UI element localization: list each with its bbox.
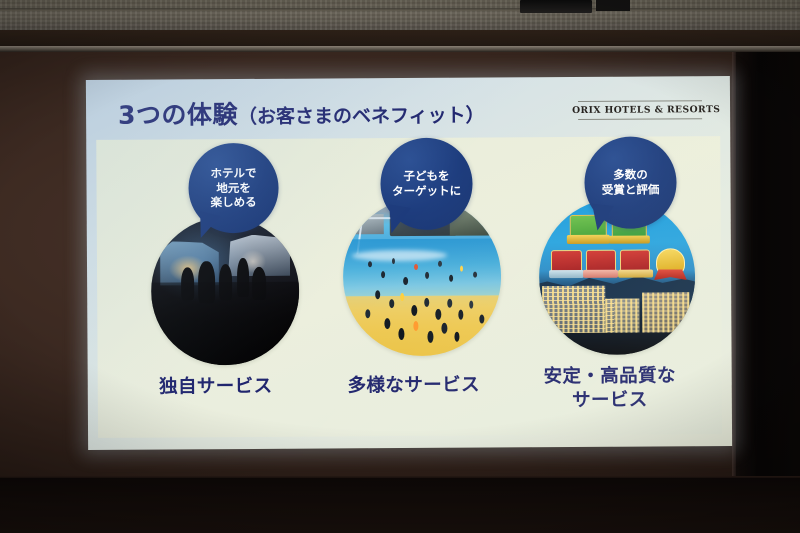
photo-hotel-event xyxy=(151,217,300,366)
ceiling-vent xyxy=(596,0,630,11)
logo-text: ORIX HOTELS & RESORTS xyxy=(572,101,708,119)
presentation-slide: 3つの体験（お客さまのベネフィット） ORIX HOTELS & RESORTS xyxy=(86,76,732,450)
brand-logo: ORIX HOTELS & RESORTS xyxy=(572,100,708,120)
page-title: 3つの体験（お客さまのベネフィット） xyxy=(118,94,485,132)
benefit-caption-3: 安定・高品質な サービス xyxy=(510,364,710,414)
speech-bubble-1-text: ホテルで 地元を 楽しめる xyxy=(204,166,262,211)
wall-right-dark-panel xyxy=(736,52,800,482)
logo-rule-bottom xyxy=(578,118,702,120)
slide-title-main: 3つの体験 xyxy=(118,100,238,130)
speech-bubble-1: ホテルで 地元を 楽しめる xyxy=(188,143,279,234)
speech-bubble-2-text: 子どもを ターゲットに xyxy=(386,169,467,199)
ceiling-seam xyxy=(0,8,800,11)
award-badge-rakuten-1 xyxy=(551,250,581,277)
ceiling-light-slot xyxy=(520,0,592,13)
benefit-caption-2: 多様なサービス xyxy=(314,373,514,399)
award-badge-rakuten-3 xyxy=(620,250,650,277)
floor-band xyxy=(0,478,800,533)
speech-bubble-3: 多数の 受賞と評価 xyxy=(584,136,677,229)
benefit-column-2: 子どもを ターゲットに 多様なサービス xyxy=(312,137,514,436)
ceiling xyxy=(0,0,800,34)
speech-bubble-3-text: 多数の 受賞と評価 xyxy=(596,168,666,198)
bubble-tail-2 xyxy=(385,204,411,235)
benefit-column-3: 多数の 受賞と評価 安定・高品質な サービス xyxy=(508,136,710,435)
award-badge-rank-1 xyxy=(656,248,685,277)
slide-title-parenthetical: （お客さまのベネフィット） xyxy=(238,105,485,129)
bubble-tail-3 xyxy=(590,204,614,232)
room-scene: 3つの体験（お客さまのベネフィット） ORIX HOTELS & RESORTS xyxy=(0,0,800,533)
content-panel: ホテルで 地元を 楽しめる 独自サービス xyxy=(96,136,722,438)
speech-bubble-2: 子どもを ターゲットに xyxy=(380,138,473,231)
benefit-caption-1: 独自サービス xyxy=(116,375,316,401)
award-badge-rakuten-2 xyxy=(586,250,616,277)
benefit-column-1: ホテルで 地元を 楽しめる 独自サービス xyxy=(114,139,316,438)
slide-header: 3つの体験（お客さまのベネフィット） ORIX HOTELS & RESORTS xyxy=(118,92,710,136)
